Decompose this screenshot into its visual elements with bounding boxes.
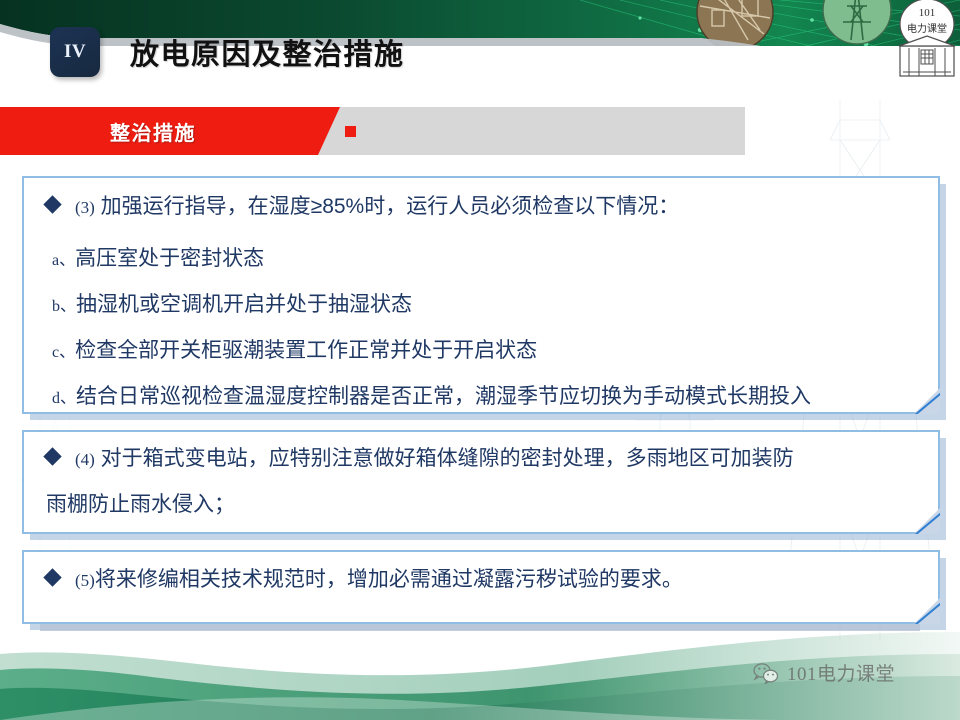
box1-item-c: c、检查全部开关柜驱潮装置工作正常并处于开启状态 bbox=[52, 334, 537, 364]
box1-item-d-marker: d、 bbox=[52, 390, 76, 407]
box1-item-d-text: 结合日常巡视检查温湿度控制器是否正常，潮湿季节应切换为手动模式长期投入 bbox=[76, 385, 811, 408]
box3-heading-number: (5) bbox=[75, 571, 95, 590]
box1-item-b-text: 抽湿机或空调机开启并处于抽湿状态 bbox=[76, 293, 412, 316]
diamond-bullet-icon bbox=[43, 195, 61, 213]
box1-heading: (3) 加强运行指导，在湿度≥85%时，运行人员必须检查以下情况： bbox=[46, 196, 679, 217]
box1-heading-number: (3) bbox=[75, 198, 95, 217]
box1-item-a: a、高压室处于密封状态 bbox=[52, 242, 264, 272]
box2-continuation: 雨棚防止雨水侵入； bbox=[46, 488, 235, 518]
box2-fold-line bbox=[904, 498, 940, 534]
diamond-bullet-icon bbox=[43, 447, 61, 465]
box2-heading-text: 对于箱式变电站，应特别注意做好箱体缝隙的密封处理，多雨地区可加装防 bbox=[101, 447, 794, 470]
box1-item-b-marker: b、 bbox=[52, 298, 76, 315]
box1-heading-text: 加强运行指导，在湿度≥85%时，运行人员必须检查以下情况： bbox=[101, 195, 680, 218]
box2-heading: (4) 对于箱式变电站，应特别注意做好箱体缝隙的密封处理，多雨地区可加装防 bbox=[46, 448, 794, 469]
box1-item-a-text: 高压室处于密封状态 bbox=[75, 247, 264, 270]
content-boxes: (3) 加强运行指导，在湿度≥85%时，运行人员必须检查以下情况： a、高压室处… bbox=[0, 0, 960, 720]
box3-heading-text: 将来修编相关技术规范时，增加必需通过凝露污秽试验的要求。 bbox=[95, 568, 683, 591]
box2-heading-number: (4) bbox=[75, 450, 95, 469]
content-box-1: (3) 加强运行指导，在湿度≥85%时，运行人员必须检查以下情况： a、高压室处… bbox=[22, 176, 940, 414]
content-box-3: (5)将来修编相关技术规范时，增加必需通过凝露污秽试验的要求。 bbox=[22, 550, 940, 624]
box1-item-d: d、结合日常巡视检查温湿度控制器是否正常，潮湿季节应切换为手动模式长期投入 bbox=[52, 380, 811, 410]
content-box-2: (4) 对于箱式变电站，应特别注意做好箱体缝隙的密封处理，多雨地区可加装防 雨棚… bbox=[22, 430, 940, 534]
diamond-bullet-icon bbox=[43, 568, 61, 586]
box1-item-c-text: 检查全部开关柜驱潮装置工作正常并处于开启状态 bbox=[75, 339, 537, 362]
bottom-divider bbox=[40, 624, 920, 631]
box3-heading: (5)将来修编相关技术规范时，增加必需通过凝露污秽试验的要求。 bbox=[46, 569, 683, 590]
box1-item-b: b、抽湿机或空调机开启并处于抽湿状态 bbox=[52, 288, 412, 318]
box1-item-c-marker: c、 bbox=[52, 344, 75, 361]
box1-fold-line bbox=[904, 378, 940, 414]
box1-item-a-marker: a、 bbox=[52, 252, 75, 269]
box3-fold-line bbox=[904, 588, 940, 624]
slide-root: IV 放电原因及整治措施 101 电力课堂 整治措施 bbox=[0, 0, 960, 720]
